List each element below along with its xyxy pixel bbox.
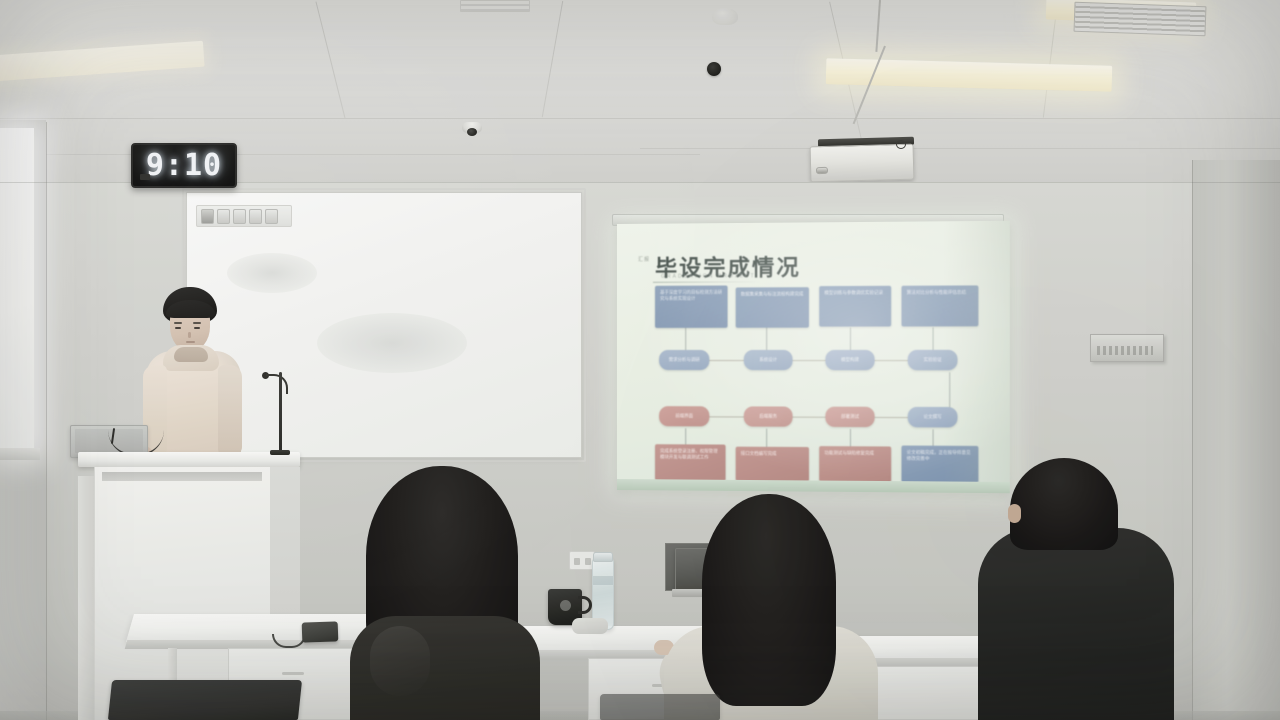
- person-hair: [702, 494, 836, 706]
- slide-kicker: 汇报: [638, 257, 650, 263]
- person-jacket: [978, 528, 1174, 720]
- ceiling-smoke-detector-icon: [707, 62, 721, 76]
- flow-box: 功能测试与缺陷修复完成: [819, 446, 891, 482]
- flow-box: 算法对比分析与性能评估总结: [902, 285, 979, 326]
- marker-icon[interactable]: [249, 209, 262, 224]
- audience-person-left: [366, 466, 556, 720]
- smartphone-on-desk[interactable]: [302, 621, 339, 642]
- wall-digital-clock: 9:10: [131, 143, 237, 188]
- flow-pill: 实验验证: [908, 350, 958, 370]
- projector-cable: [896, 140, 906, 149]
- window: [0, 128, 34, 448]
- connector: [793, 360, 826, 361]
- person-ear: [1008, 504, 1021, 523]
- connector: [875, 360, 908, 361]
- classroom-scene: 9:10 汇报 毕设完成情况 GRADUATION PROJECT: [0, 0, 1280, 720]
- microphone-base: [270, 450, 290, 455]
- connector: [709, 416, 743, 417]
- water-bottle-cap[interactable]: [593, 552, 613, 562]
- marker-icon[interactable]: [265, 209, 278, 224]
- presenter-brow: [193, 322, 201, 324]
- connector: [850, 429, 851, 447]
- connector: [685, 328, 686, 350]
- desk-front-panel: [874, 666, 994, 720]
- flow-pill: 论文撰写: [908, 407, 958, 428]
- mug-logo-icon: [560, 600, 571, 611]
- ceiling-air-vent: [1074, 2, 1207, 37]
- wall-control-panel[interactable]: [1090, 334, 1164, 362]
- person-shoulder-highlight: [370, 626, 430, 696]
- ceiling-fixture: [712, 8, 738, 25]
- presenter-nose: [188, 332, 191, 338]
- connector: [766, 328, 767, 350]
- flow-pill: 需求分析与调研: [659, 350, 709, 370]
- wall-corner: [46, 122, 47, 720]
- right-wall-pillar: [1192, 160, 1280, 720]
- presenter-hood-opening: [174, 347, 208, 362]
- connector: [850, 328, 851, 350]
- presenter-brow: [174, 322, 182, 324]
- flow-pill: 前端界面: [659, 406, 709, 426]
- connector: [875, 417, 908, 418]
- chair[interactable]: [600, 694, 720, 720]
- desk-drawer-handle[interactable]: [282, 672, 304, 675]
- slide-flow-diagram: 基于深度学习的目标检测方法研究与系统实现设计 数据集采集与标注流程构建完成 模型…: [655, 284, 978, 470]
- marker-icon[interactable]: [217, 209, 230, 224]
- connector: [709, 360, 743, 361]
- podium-recess: [102, 472, 262, 481]
- flow-pill: 后端服务: [744, 406, 793, 426]
- slide-subtitle: GRADUATION PROJECT: [661, 273, 756, 280]
- audience-person-center: [702, 494, 882, 720]
- projector-lens-icon: [816, 167, 828, 174]
- eraser-icon[interactable]: [233, 209, 246, 224]
- clock-indicator-led: [140, 174, 150, 180]
- slide-content: 汇报 毕设完成情况 GRADUATION PROJECT: [617, 221, 1010, 493]
- clock-time-display: 9:10: [146, 148, 222, 183]
- marker-icon[interactable]: [201, 209, 214, 224]
- ceiling-seam: [640, 148, 1280, 149]
- flow-pill: 模型构建: [825, 350, 874, 370]
- presenter-right-arm: [218, 365, 242, 455]
- ceiling-air-vent: [460, 0, 530, 12]
- tissue-pack: [572, 618, 608, 634]
- flow-box: 完成系统登录注册、权限管理模块开发与联调测试工作: [655, 444, 726, 481]
- flow-box: 数据集采集与标注流程构建完成: [736, 287, 809, 328]
- connector: [949, 372, 950, 409]
- connector: [766, 429, 767, 447]
- flow-box: 接口文档编写完成: [736, 447, 809, 482]
- person-hair: [1010, 458, 1118, 550]
- chair[interactable]: [108, 680, 302, 720]
- slide-title-underline: [653, 281, 760, 283]
- presenter-mouth: [186, 341, 195, 343]
- ceiling-seam: [0, 118, 1280, 119]
- projection-screen: 汇报 毕设完成情况 GRADUATION PROJECT: [617, 221, 1010, 493]
- window-sill: [0, 448, 40, 460]
- audience-person-right: [1010, 458, 1200, 720]
- flow-pill: 系统设计: [744, 350, 793, 370]
- flow-box: 论文初稿完成，正在按导师意见修改完善中: [902, 446, 979, 483]
- flow-box: 模型训练与参数调优实验记录: [819, 286, 891, 327]
- whiteboard-marker-tray[interactable]: [196, 205, 292, 227]
- ceiling-seam: [0, 154, 700, 155]
- flow-pill: 部署测试: [825, 407, 874, 427]
- microphone-stand: [279, 372, 282, 454]
- connector: [793, 417, 826, 418]
- flow-box: 基于深度学习的目标检测方法研究与系统实现设计: [655, 286, 728, 328]
- connector: [933, 327, 934, 349]
- projector-body: [810, 144, 915, 183]
- podium-top-surface: [78, 452, 300, 467]
- water-bottle-label: [593, 576, 613, 585]
- ceiling-dome-camera-icon: [462, 122, 482, 133]
- whiteboard-smudge: [317, 313, 467, 373]
